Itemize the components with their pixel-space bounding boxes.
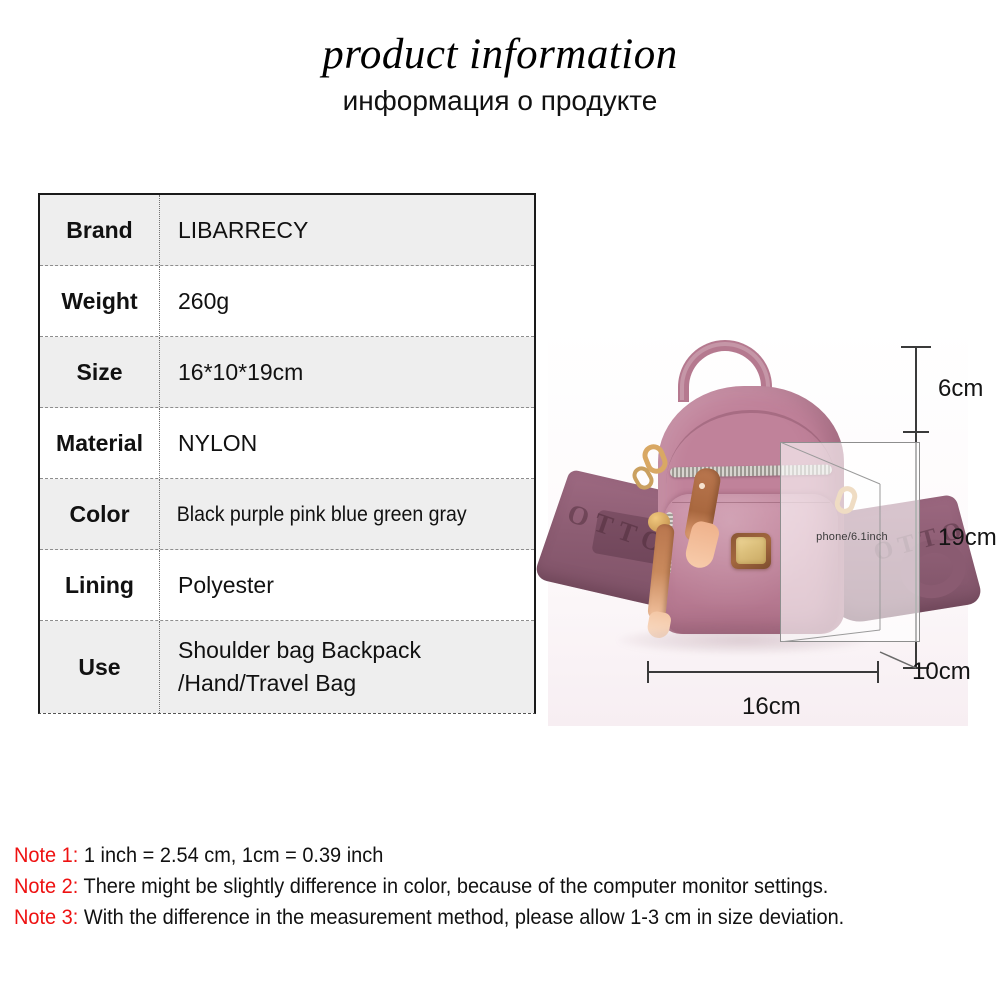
brand-logo-plate-gold <box>736 537 766 564</box>
page-title-english: product information <box>0 30 1000 80</box>
spec-value-weight: 260g <box>160 266 534 336</box>
note-text: With the difference in the measurement m… <box>78 906 844 929</box>
spec-label-color: Color <box>40 479 160 549</box>
spec-value-size: 16*10*19cm <box>160 337 534 407</box>
spec-label-size: Size <box>40 337 160 407</box>
spec-value-use: Shoulder bag Backpack /Hand/Travel Bag <box>160 621 534 713</box>
table-row: BrandLIBARRECY <box>40 195 534 266</box>
spec-value-brand: LIBARRECY <box>160 195 534 265</box>
spec-label-use: Use <box>40 621 160 713</box>
dimension-label-handle-height: 6cm <box>938 375 983 403</box>
spec-label-lining: Lining <box>40 550 160 620</box>
note-text: 1 inch = 2.54 cm, 1cm = 0.39 inch <box>78 844 383 867</box>
note-label: Note 2: <box>14 875 78 898</box>
table-row: LiningPolyester <box>40 550 534 621</box>
table-row: UseShoulder bag Backpack /Hand/Travel Ba… <box>40 621 534 713</box>
table-row: Weight260g <box>40 266 534 337</box>
spec-value-lining: Polyester <box>160 550 534 620</box>
page-header: product information информация о продукт… <box>0 30 1000 119</box>
page-title-russian: информация о продукте <box>0 83 1000 119</box>
notes-section: Note 1: 1 inch = 2.54 cm, 1cm = 0.39 inc… <box>14 840 994 933</box>
dimension-label-width: 16cm <box>742 693 801 721</box>
dimension-label-body-height: 19cm <box>938 524 997 552</box>
phone-size-label: phone/6.1inch <box>788 531 916 543</box>
spec-value-color: Black purple pink blue green gray <box>160 479 508 549</box>
note-label: Note 1: <box>14 844 78 867</box>
note-line: Note 2: There might be slightly differen… <box>14 871 945 902</box>
spec-label-brand: Brand <box>40 195 160 265</box>
spec-value-material: NYLON <box>160 408 534 478</box>
spec-label-weight: Weight <box>40 266 160 336</box>
dimension-label-depth: 10cm <box>912 658 971 686</box>
table-row: ColorBlack purple pink blue green gray <box>40 479 534 550</box>
note-text: There might be slightly difference in co… <box>78 875 828 898</box>
product-information-page: product information информация о продукт… <box>0 0 1000 1000</box>
spec-label-material: Material <box>40 408 160 478</box>
table-row: MaterialNYLON <box>40 408 534 479</box>
table-row: Size16*10*19cm <box>40 337 534 408</box>
product-photo: OTTO OTTO phone/6.1inch <box>548 326 968 726</box>
specification-table: BrandLIBARRECYWeight260gSize16*10*19cmMa… <box>38 193 536 714</box>
note-line: Note 3: With the difference in the measu… <box>14 902 945 933</box>
note-label: Note 3: <box>14 906 78 929</box>
note-line: Note 1: 1 inch = 2.54 cm, 1cm = 0.39 inc… <box>14 840 945 871</box>
